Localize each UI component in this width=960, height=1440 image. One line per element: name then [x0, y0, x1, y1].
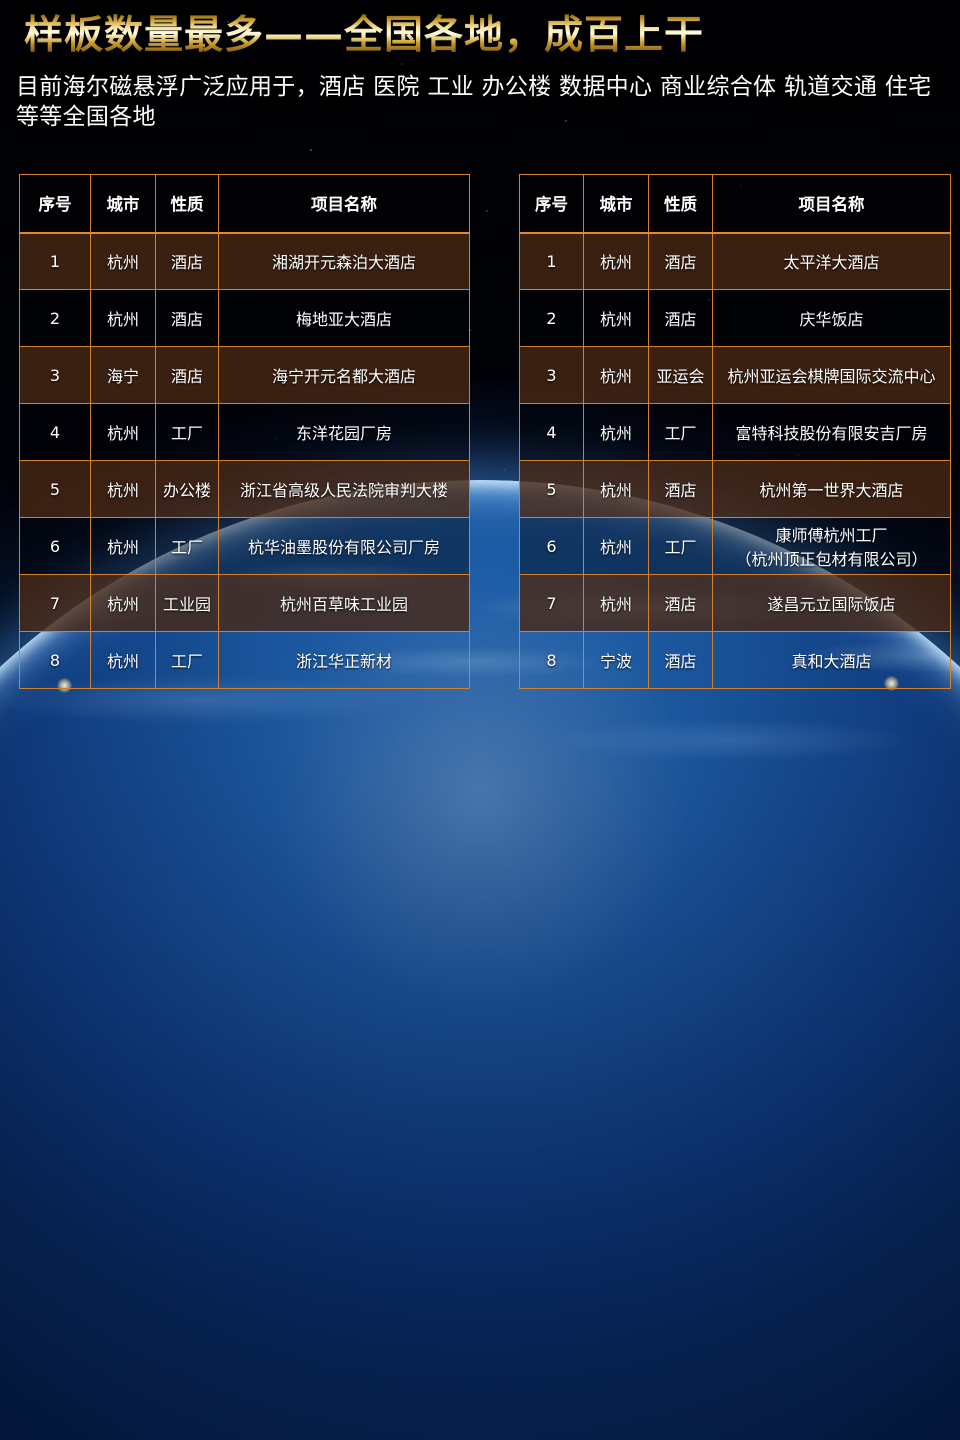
- cell-no: 6: [520, 518, 584, 575]
- cell-city: 杭州: [91, 233, 156, 290]
- cell-type: 工厂: [156, 404, 219, 461]
- cell-type: 工厂: [649, 518, 713, 575]
- cell-type: 酒店: [156, 233, 219, 290]
- cell-city: 杭州: [584, 461, 649, 518]
- table-body: 1杭州酒店太平洋大酒店2杭州酒店庆华饭店3杭州亚运会杭州亚运会棋牌国际交流中心4…: [520, 233, 951, 689]
- cell-project-name: 富特科技股份有限安吉厂房: [713, 404, 951, 461]
- cell-project-name: 梅地亚大酒店: [219, 290, 470, 347]
- table-row: 1杭州酒店湘湖开元森泊大酒店: [20, 233, 470, 290]
- cell-city: 杭州: [91, 575, 156, 632]
- cell-project-name: 东洋花园厂房: [219, 404, 470, 461]
- table-row: 5杭州办公楼浙江省高级人民法院审判大楼: [20, 461, 470, 518]
- cell-type: 办公楼: [156, 461, 219, 518]
- cell-type: 酒店: [649, 632, 713, 689]
- table-body: 1杭州酒店湘湖开元森泊大酒店2杭州酒店梅地亚大酒店3海宁酒店海宁开元名都大酒店4…: [20, 233, 470, 689]
- slide-header: 样板数量最多——全国各地，成百上干 目前海尔磁悬浮广泛应用于，酒店 医院 工业 …: [0, 0, 960, 132]
- table-row: 3杭州亚运会杭州亚运会棋牌国际交流中心: [520, 347, 951, 404]
- table-row: 2杭州酒店庆华饭店: [520, 290, 951, 347]
- table-row: 1杭州酒店太平洋大酒店: [520, 233, 951, 290]
- cell-project-name: 太平洋大酒店: [713, 233, 951, 290]
- table-header-row: 序号城市性质项目名称: [520, 175, 951, 233]
- cell-type: 酒店: [156, 347, 219, 404]
- cell-city: 杭州: [584, 233, 649, 290]
- cell-project-name: 湘湖开元森泊大酒店: [219, 233, 470, 290]
- cell-type: 工厂: [156, 632, 219, 689]
- table-row: 4杭州工厂东洋花园厂房: [20, 404, 470, 461]
- cell-no: 8: [520, 632, 584, 689]
- table-row: 6杭州工厂杭华油墨股份有限公司厂房: [20, 518, 470, 575]
- cell-city: 杭州: [584, 347, 649, 404]
- cell-type: 酒店: [649, 233, 713, 290]
- cell-city: 杭州: [91, 290, 156, 347]
- cell-no: 8: [20, 632, 91, 689]
- table-header-row: 序号城市性质项目名称: [20, 175, 470, 233]
- cell-project-name: 庆华饭店: [713, 290, 951, 347]
- column-header-no: 序号: [520, 175, 584, 233]
- cell-project-name: 真和大酒店: [713, 632, 951, 689]
- cell-project-name: 杭州百草味工业园: [219, 575, 470, 632]
- projects-table-left: 序号城市性质项目名称 1杭州酒店湘湖开元森泊大酒店2杭州酒店梅地亚大酒店3海宁酒…: [19, 174, 470, 689]
- cell-city: 杭州: [91, 518, 156, 575]
- cell-city: 杭州: [91, 404, 156, 461]
- table-row: 3海宁酒店海宁开元名都大酒店: [20, 347, 470, 404]
- cell-type: 工厂: [649, 404, 713, 461]
- column-header-type: 性质: [156, 175, 219, 233]
- cell-no: 4: [20, 404, 91, 461]
- cell-no: 2: [520, 290, 584, 347]
- cell-city: 宁波: [584, 632, 649, 689]
- cell-type: 工业园: [156, 575, 219, 632]
- table-row: 7杭州酒店遂昌元立国际饭店: [520, 575, 951, 632]
- table-row: 4杭州工厂富特科技股份有限安吉厂房: [520, 404, 951, 461]
- cell-city: 杭州: [584, 518, 649, 575]
- cell-no: 4: [520, 404, 584, 461]
- cell-no: 7: [520, 575, 584, 632]
- cell-no: 1: [20, 233, 91, 290]
- column-header-city: 城市: [584, 175, 649, 233]
- cell-no: 1: [520, 233, 584, 290]
- cell-project-name: 杭华油墨股份有限公司厂房: [219, 518, 470, 575]
- cell-project-name: 浙江省高级人民法院审判大楼: [219, 461, 470, 518]
- cell-no: 6: [20, 518, 91, 575]
- cell-type: 酒店: [649, 575, 713, 632]
- column-header-no: 序号: [20, 175, 91, 233]
- cell-project-name: 杭州第一世界大酒店: [713, 461, 951, 518]
- cell-city: 杭州: [91, 632, 156, 689]
- cell-no: 7: [20, 575, 91, 632]
- table-row: 8宁波酒店真和大酒店: [520, 632, 951, 689]
- cell-project-name: 遂昌元立国际饭店: [713, 575, 951, 632]
- cell-type: 酒店: [649, 461, 713, 518]
- column-header-name: 项目名称: [219, 175, 470, 233]
- table-row: 6杭州工厂康师傅杭州工厂（杭州顶正包材有限公司）: [520, 518, 951, 575]
- cell-type: 亚运会: [649, 347, 713, 404]
- column-header-type: 性质: [649, 175, 713, 233]
- cell-no: 5: [520, 461, 584, 518]
- cell-type: 酒店: [649, 290, 713, 347]
- page-title: 样板数量最多——全国各地，成百上干: [24, 14, 960, 58]
- cell-no: 3: [520, 347, 584, 404]
- cell-no: 5: [20, 461, 91, 518]
- table-row: 5杭州酒店杭州第一世界大酒店: [520, 461, 951, 518]
- table-row: 7杭州工业园杭州百草味工业园: [20, 575, 470, 632]
- cell-city: 海宁: [91, 347, 156, 404]
- table-row: 2杭州酒店梅地亚大酒店: [20, 290, 470, 347]
- column-header-city: 城市: [91, 175, 156, 233]
- cell-project-name: 浙江华正新材: [219, 632, 470, 689]
- cell-project-name: 杭州亚运会棋牌国际交流中心: [713, 347, 951, 404]
- cell-no: 3: [20, 347, 91, 404]
- cell-city: 杭州: [91, 461, 156, 518]
- cell-city: 杭州: [584, 575, 649, 632]
- cell-no: 2: [20, 290, 91, 347]
- cell-type: 酒店: [156, 290, 219, 347]
- projects-table-right: 序号城市性质项目名称 1杭州酒店太平洋大酒店2杭州酒店庆华饭店3杭州亚运会杭州亚…: [519, 174, 951, 689]
- page-subtitle: 目前海尔磁悬浮广泛应用于，酒店 医院 工业 办公楼 数据中心 商业综合体 轨道交…: [16, 72, 946, 133]
- table-row: 8杭州工厂浙江华正新材: [20, 632, 470, 689]
- cell-city: 杭州: [584, 404, 649, 461]
- cell-project-name: 康师傅杭州工厂（杭州顶正包材有限公司）: [713, 518, 951, 575]
- column-header-name: 项目名称: [713, 175, 951, 233]
- cell-project-name: 海宁开元名都大酒店: [219, 347, 470, 404]
- cell-type: 工厂: [156, 518, 219, 575]
- cell-city: 杭州: [584, 290, 649, 347]
